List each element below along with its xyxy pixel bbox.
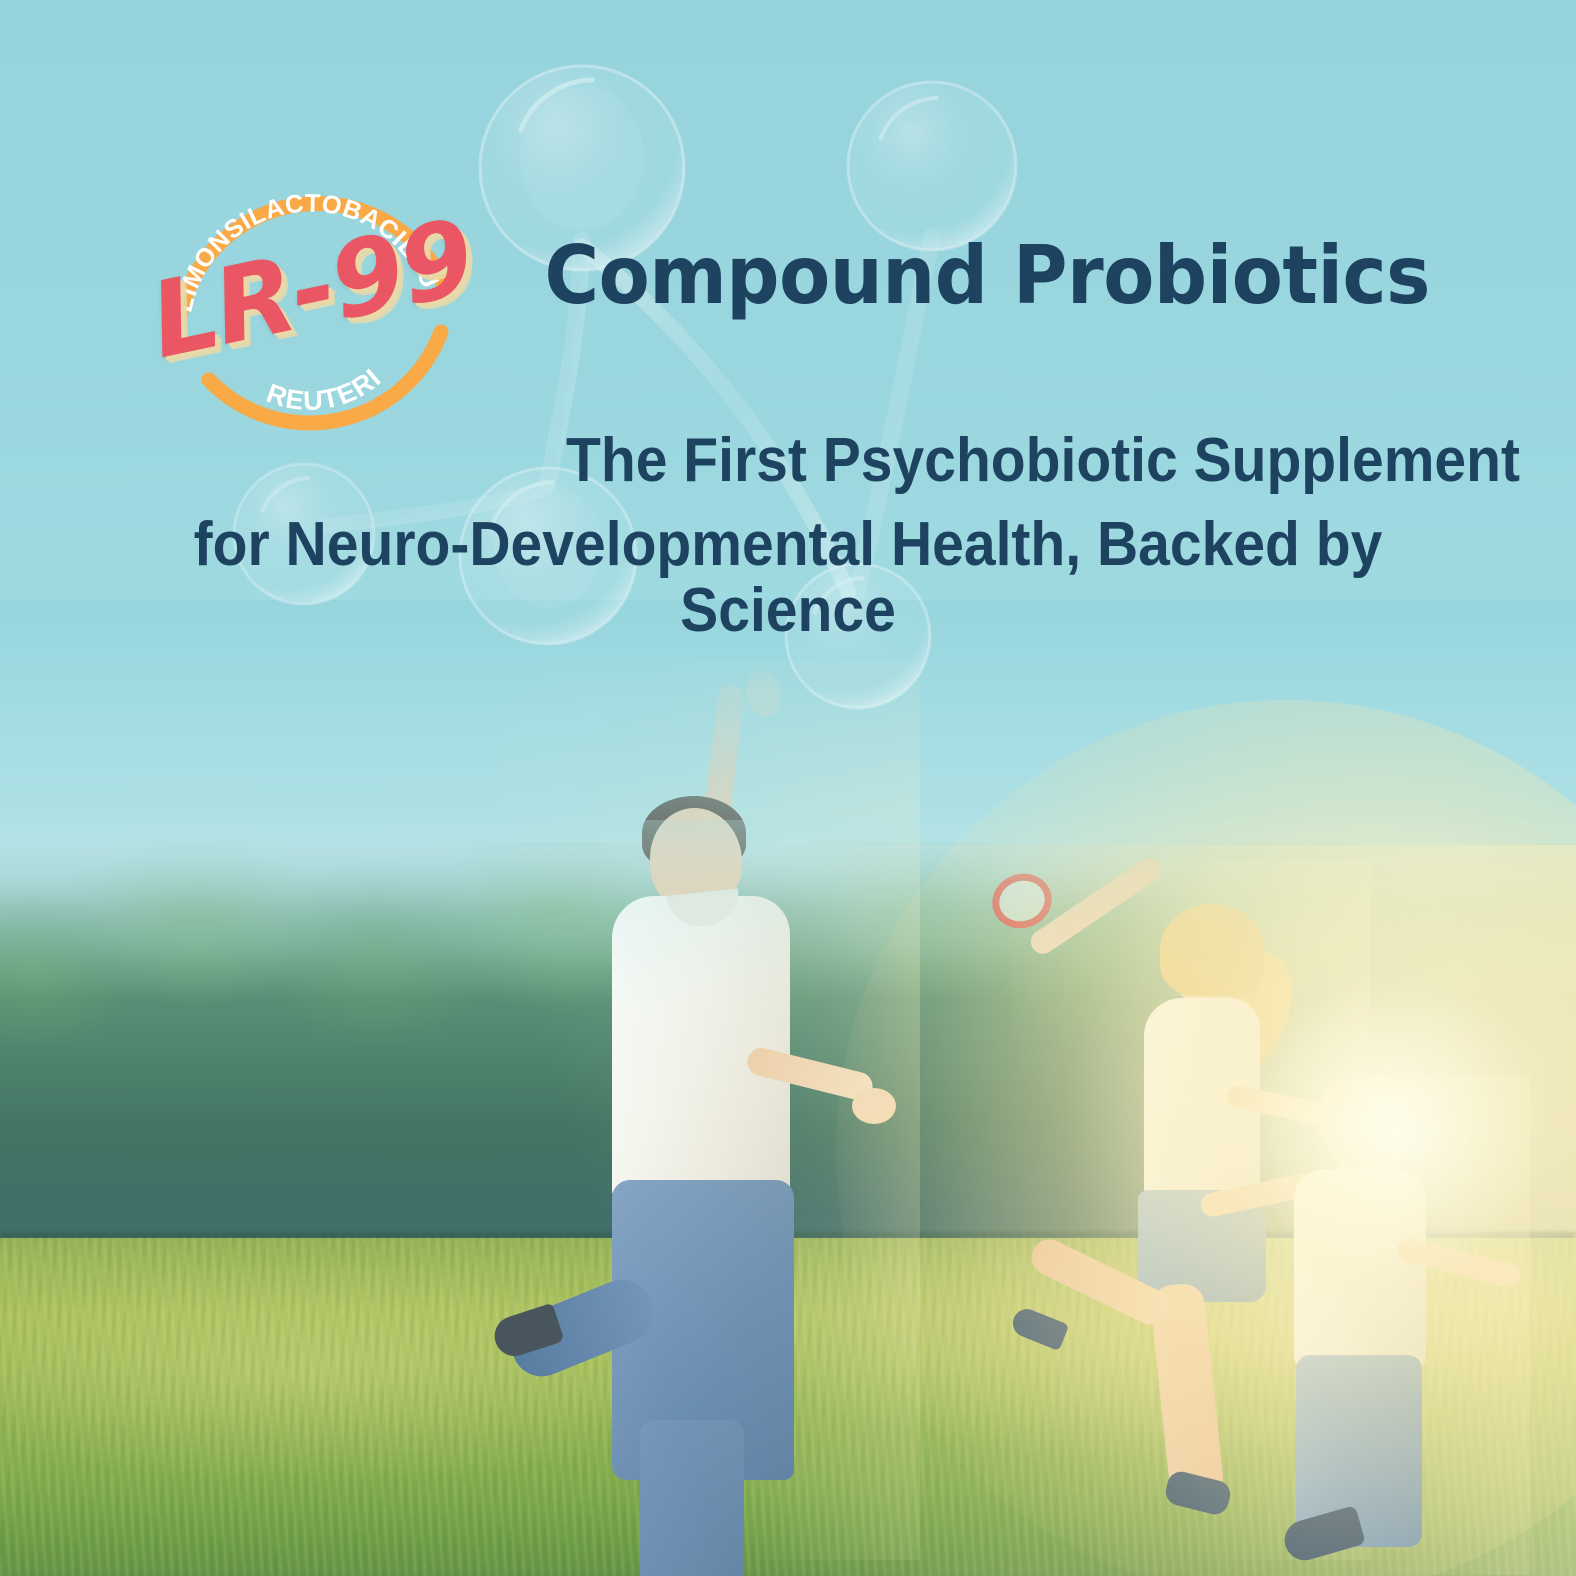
page-title: Compound Probiotics [100, 236, 1430, 316]
subtitle-line-1: The First Psychobiotic Supplement [122, 428, 1520, 494]
woman-back-sandal [1009, 1305, 1070, 1351]
subtitle-line-2: for Neuro-Developmental Health, Backed b… [115, 512, 1462, 643]
boy-tshirt [1294, 1169, 1426, 1369]
man-raised-hand [742, 667, 785, 719]
person-man [500, 660, 920, 1560]
boy-shoe [1280, 1505, 1366, 1565]
man-front-leg [640, 1420, 744, 1576]
boy-head [1326, 1085, 1410, 1177]
promo-banner: LIMONSILACTOBACILLUS REUTERI LR-99 Compo… [0, 0, 1576, 1576]
person-boy [1240, 1075, 1530, 1575]
man-lowered-hand [852, 1088, 896, 1124]
woman-hair [1160, 904, 1264, 996]
